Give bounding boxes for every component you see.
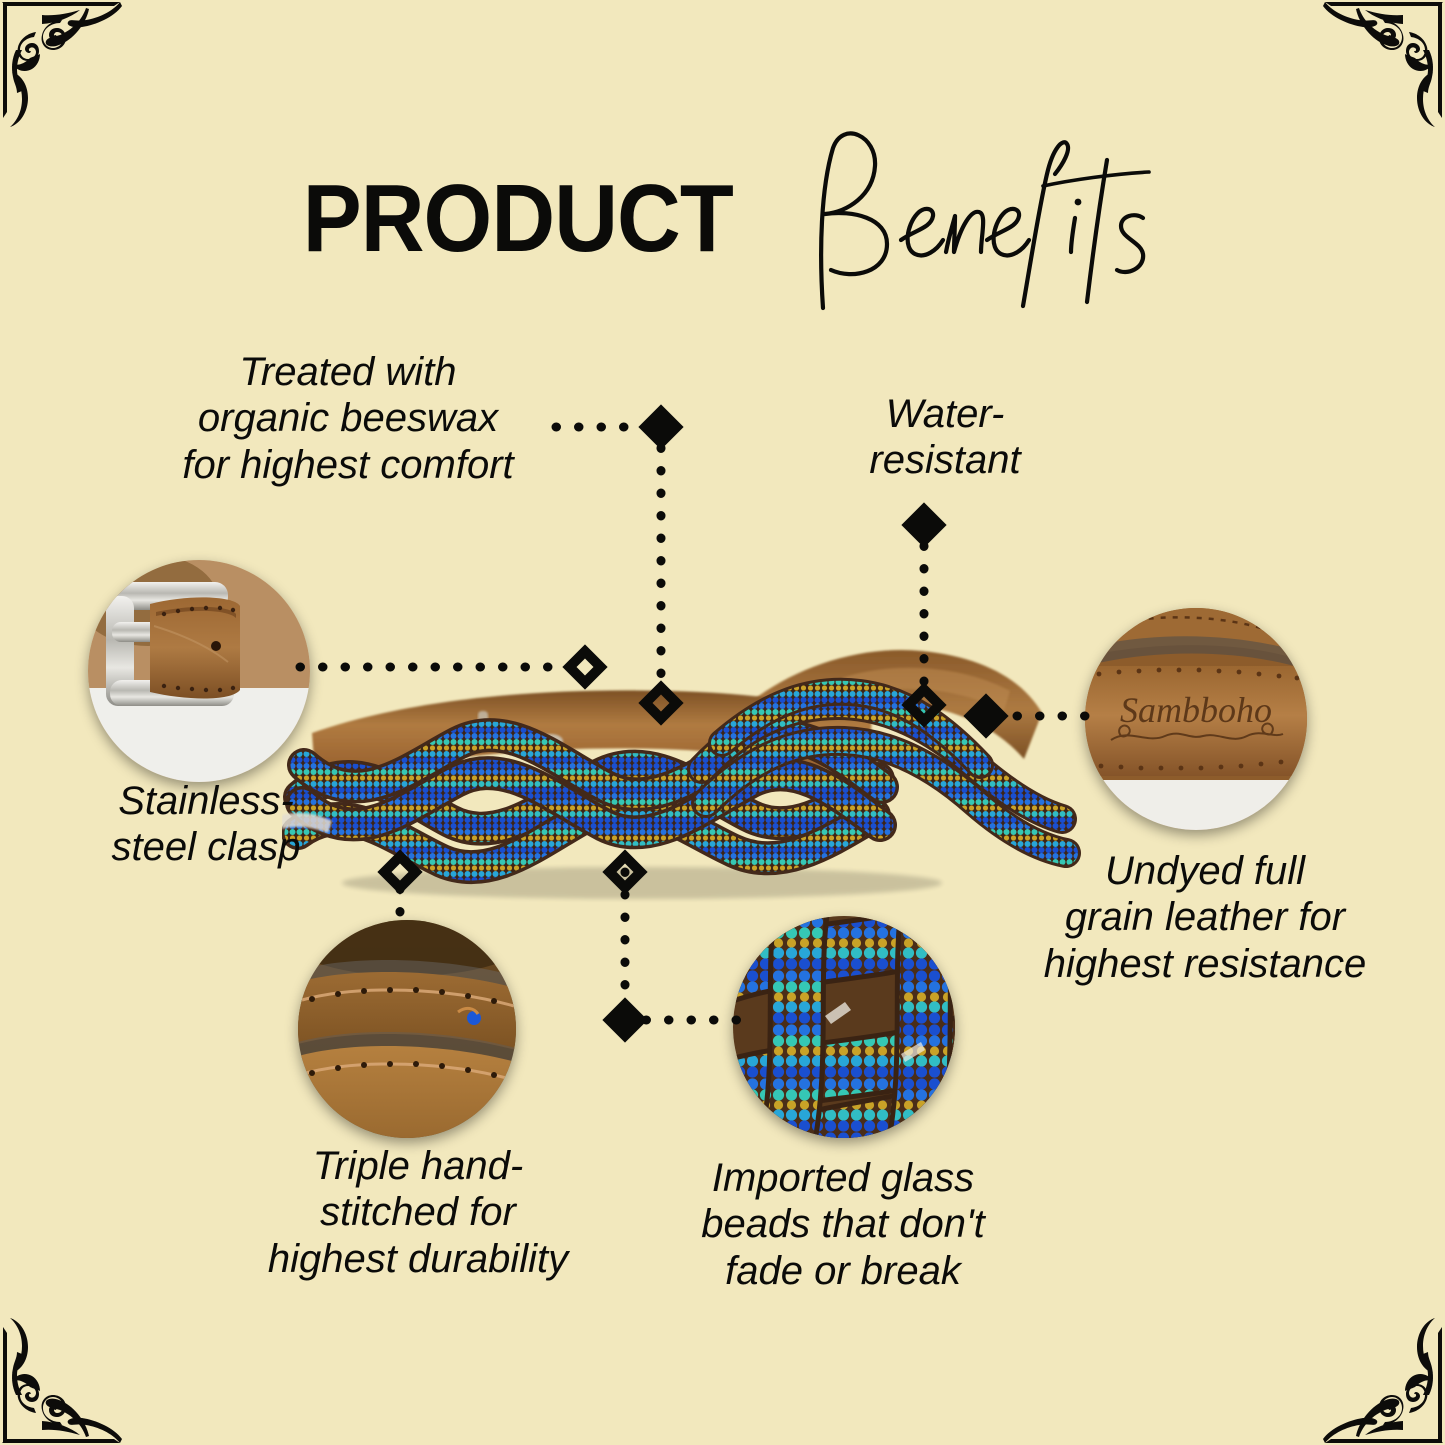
solid-diamond-marker-water (901, 502, 946, 547)
detail-circle-sambboho-logo: Sambboho (1085, 608, 1307, 830)
benefit-label-water-resistant: Water- resistant (795, 391, 1095, 484)
corner-flourish-ornament-bottom-left (0, 1285, 165, 1445)
infographic-canvas: PRODUCT (0, 0, 1445, 1445)
page-title-script (791, 130, 1161, 320)
solid-diamond-marker-beads (602, 997, 647, 1042)
detail-circle-glass-beads (733, 916, 955, 1138)
corner-flourish-ornament-bottom-right (1280, 1285, 1445, 1445)
product-image-beaded-collar (282, 583, 1082, 913)
benefit-label-undyed-leather: Undyed full grain leather for highest re… (1006, 848, 1404, 987)
solid-diamond-marker-beeswax (638, 404, 683, 449)
brand-text: Sambboho (1120, 690, 1272, 730)
benefit-label-imported-glass-beads: Imported glass beads that don't fade or … (648, 1155, 1038, 1294)
page-title-bold: PRODUCT (303, 164, 733, 274)
benefit-label-beeswax: Treated with organic beeswax for highest… (138, 349, 558, 488)
benefit-label-stainless-steel-clasp: Stainless- steel clasp (56, 778, 356, 871)
benefit-label-triple-hand-stitched: Triple hand- stitched for highest durabi… (212, 1143, 624, 1282)
detail-circle-clasp-buckle (88, 560, 310, 782)
page-title: PRODUCT (0, 118, 1445, 320)
detail-circle-triple-stitching (298, 920, 516, 1138)
